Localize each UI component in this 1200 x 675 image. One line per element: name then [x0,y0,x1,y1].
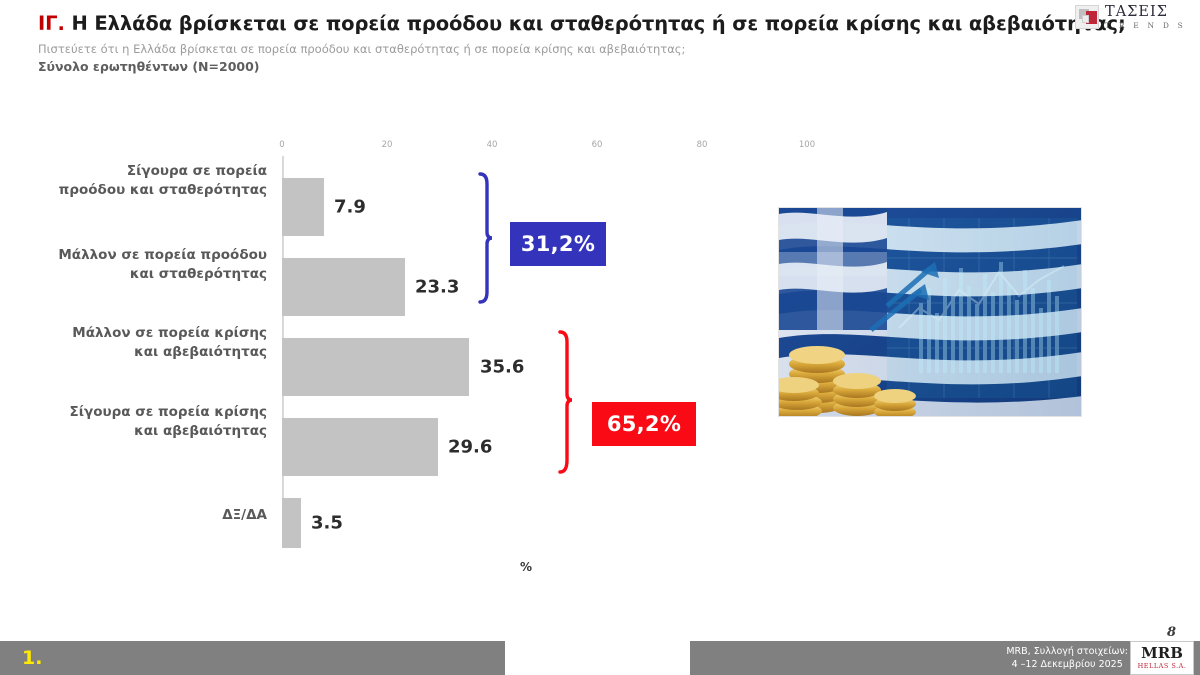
footer-right-bar: MRB, Συλλογή στοιχείων: 4 –12 Δεκεμβρίου… [690,641,1200,675]
bar-value-2: 35.6 [480,357,524,378]
mrb-logo-subtitle: HELLAS S.A. [1138,662,1187,670]
bar-value-3: 29.6 [448,437,492,458]
source-line-1: MRB, Συλλογή στοιχείων: [1006,645,1128,658]
category-label-4: ΔΞ/ΔΑ [57,506,267,525]
x-tick-60: 60 [592,140,603,150]
bar-chart: 0 20 40 60 80 100 Σίγουρα σε πορεία προό… [0,140,760,570]
category-label-3: Σίγουρα σε πορεία κρίσης και αβεβαιότητα… [57,403,267,440]
mrb-logo-name: MRB [1141,646,1183,661]
bar-value-4: 3.5 [311,513,343,534]
source-note: MRB, Συλλογή στοιχείων: 4 –12 Δεκεμβρίου… [1006,645,1128,672]
x-tick-0: 0 [279,140,284,150]
category-label-0: Σίγουρα σε πορεία προόδου και σταθερότητ… [57,162,267,199]
x-axis-label: % [520,560,532,574]
brace-crisis-icon [554,328,574,476]
source-line-2: 4 –12 Δεκεμβρίου 2025 [1006,658,1128,671]
bar-value-1: 23.3 [415,277,459,298]
category-labels: Σίγουρα σε πορεία προόδου και σταθερότητ… [55,156,267,546]
category-label-1: Μάλλον σε πορεία προόδου και σταθερότητα… [57,246,267,283]
x-tick-40: 40 [487,140,498,150]
bar-4[interactable] [282,498,301,548]
tasseis-logo-icon [1075,5,1099,29]
x-axis-ticks: 0 20 40 60 80 100 [282,140,860,156]
bar-2[interactable] [282,338,469,396]
brand-text: ΤΑΣΕΙΣ T R E N D S [1105,5,1186,29]
bar-1[interactable] [282,258,405,316]
sample-size-label: Σύνολο ερωτηθέντων (Ν=2000) [38,59,1058,75]
page-title: ΙΓ. Η Ελλάδα βρίσκεται σε πορεία προόδου… [38,13,1058,35]
bar-3[interactable] [282,418,438,476]
brand-name: ΤΑΣΕΙΣ [1105,5,1186,20]
header-block: ΙΓ. Η Ελλάδα βρίσκεται σε πορεία προόδου… [38,13,1058,76]
x-tick-100: 100 [799,140,815,150]
bar-value-0: 7.9 [334,197,366,218]
category-label-2: Μάλλον σε πορεία κρίσης και αβεβαιότητας [57,324,267,361]
slide-marker: 1. [22,647,42,669]
title-main: Η Ελλάδα βρίσκεται σε πορεία προόδου και… [72,12,1126,35]
plot-area: 7.9 23.3 35.6 29.6 3.5 [282,156,860,546]
page-number: 8 [1167,625,1176,640]
bar-0[interactable] [282,178,324,236]
brand-logo: ΤΑΣΕΙΣ T R E N D S [1075,5,1186,29]
greek-flag-economy-photo [778,207,1082,417]
question-subtitle: Πιστεύετε ότι η Ελλάδα βρίσκεται σε πορε… [38,42,1058,57]
callout-crisis-total: 65,2% [592,402,696,446]
slide-root: ΙΓ. Η Ελλάδα βρίσκεται σε πορεία προόδου… [0,0,1200,675]
callout-progress-total: 31,2% [510,222,606,266]
title-prefix: ΙΓ. [38,12,65,35]
brand-tagline: T R E N D S [1105,22,1186,30]
footer-left-bar: 1. [0,641,505,675]
x-tick-20: 20 [382,140,393,150]
brace-progress-icon [474,170,494,306]
mrb-logo: MRB HELLAS S.A. [1130,641,1194,675]
x-tick-80: 80 [697,140,708,150]
